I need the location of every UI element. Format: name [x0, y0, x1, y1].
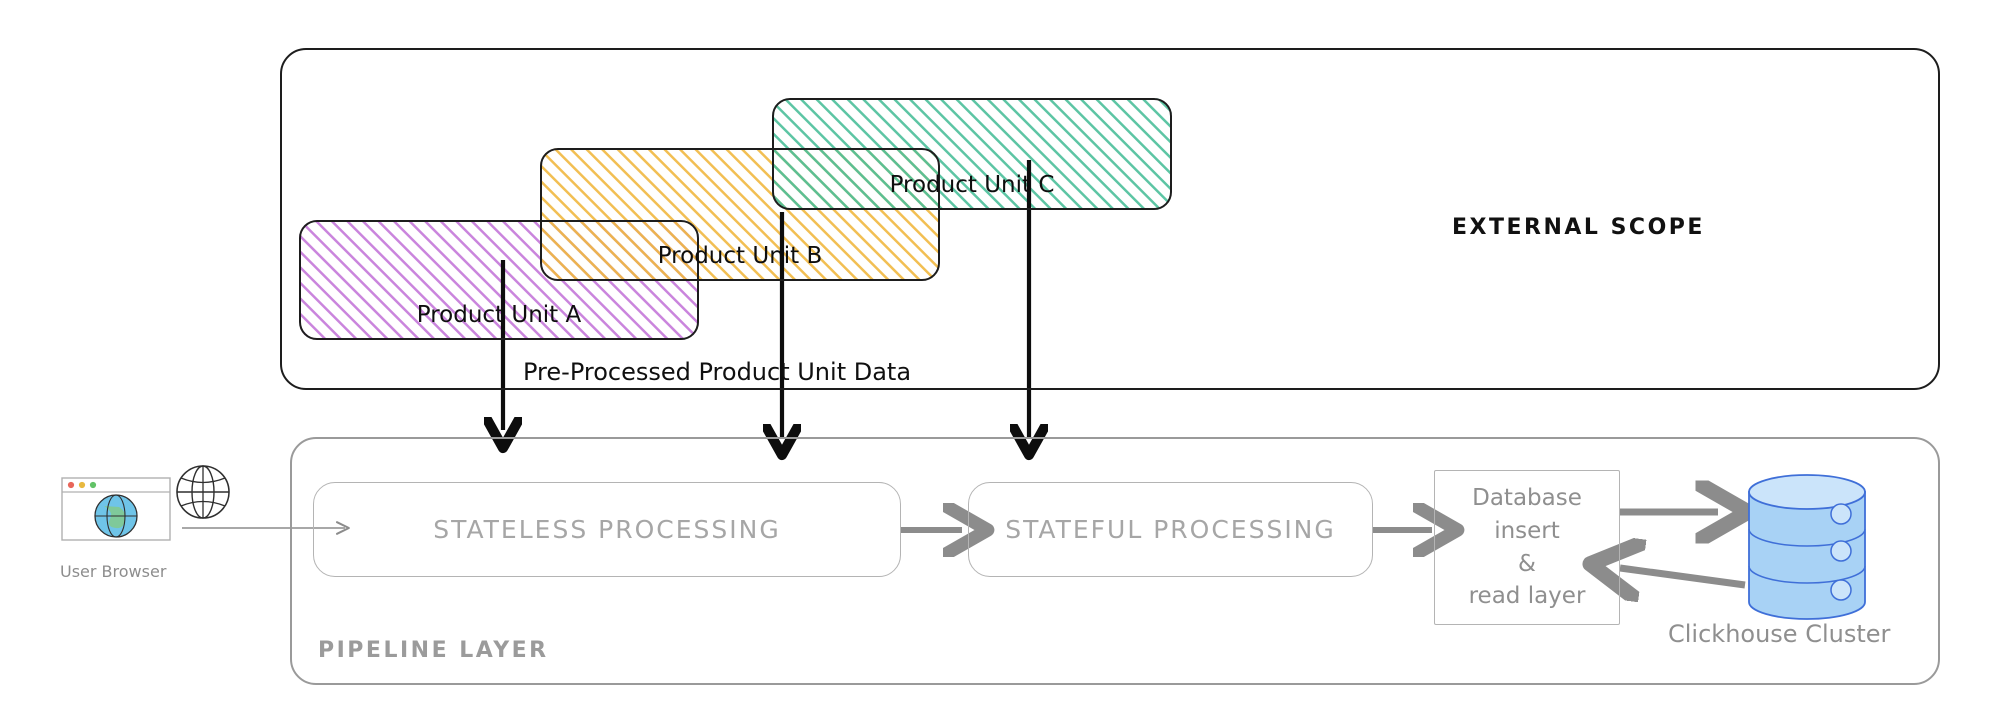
stage-stateless-processing[interactable]: STATELESS PROCESSING	[313, 482, 901, 577]
pipeline-layer-label: PIPELINE LAYER	[318, 638, 549, 663]
product-unit-c-label: Product Unit C	[890, 172, 1055, 198]
db-layer-line-4: read layer	[1469, 580, 1586, 613]
product-unit-a-label: Product Unit A	[417, 302, 582, 328]
diagram-canvas: EXTERNAL SCOPE Product Unit A Product Un…	[0, 0, 1999, 704]
globe-icon	[177, 466, 229, 518]
external-scope-label: EXTERNAL SCOPE	[1452, 215, 1705, 240]
user-browser-caption: User Browser	[60, 562, 166, 581]
product-unit-b-label: Product Unit B	[658, 243, 823, 269]
product-unit-c[interactable]: Product Unit C	[772, 98, 1172, 210]
database-insert-read-layer[interactable]: Database insert & read layer	[1434, 470, 1620, 625]
db-layer-line-1: Database	[1472, 482, 1582, 515]
browser-window-icon	[62, 478, 170, 540]
stateless-processing-label: STATELESS PROCESSING	[433, 515, 780, 544]
pre-processed-data-label: Pre-Processed Product Unit Data	[523, 358, 911, 386]
clickhouse-cluster-caption: Clickhouse Cluster	[1668, 620, 1890, 648]
stateful-processing-label: STATEFUL PROCESSING	[1005, 515, 1336, 544]
db-layer-line-2: insert	[1494, 515, 1560, 548]
db-layer-line-3: &	[1518, 548, 1536, 581]
stage-stateful-processing[interactable]: STATEFUL PROCESSING	[968, 482, 1373, 577]
